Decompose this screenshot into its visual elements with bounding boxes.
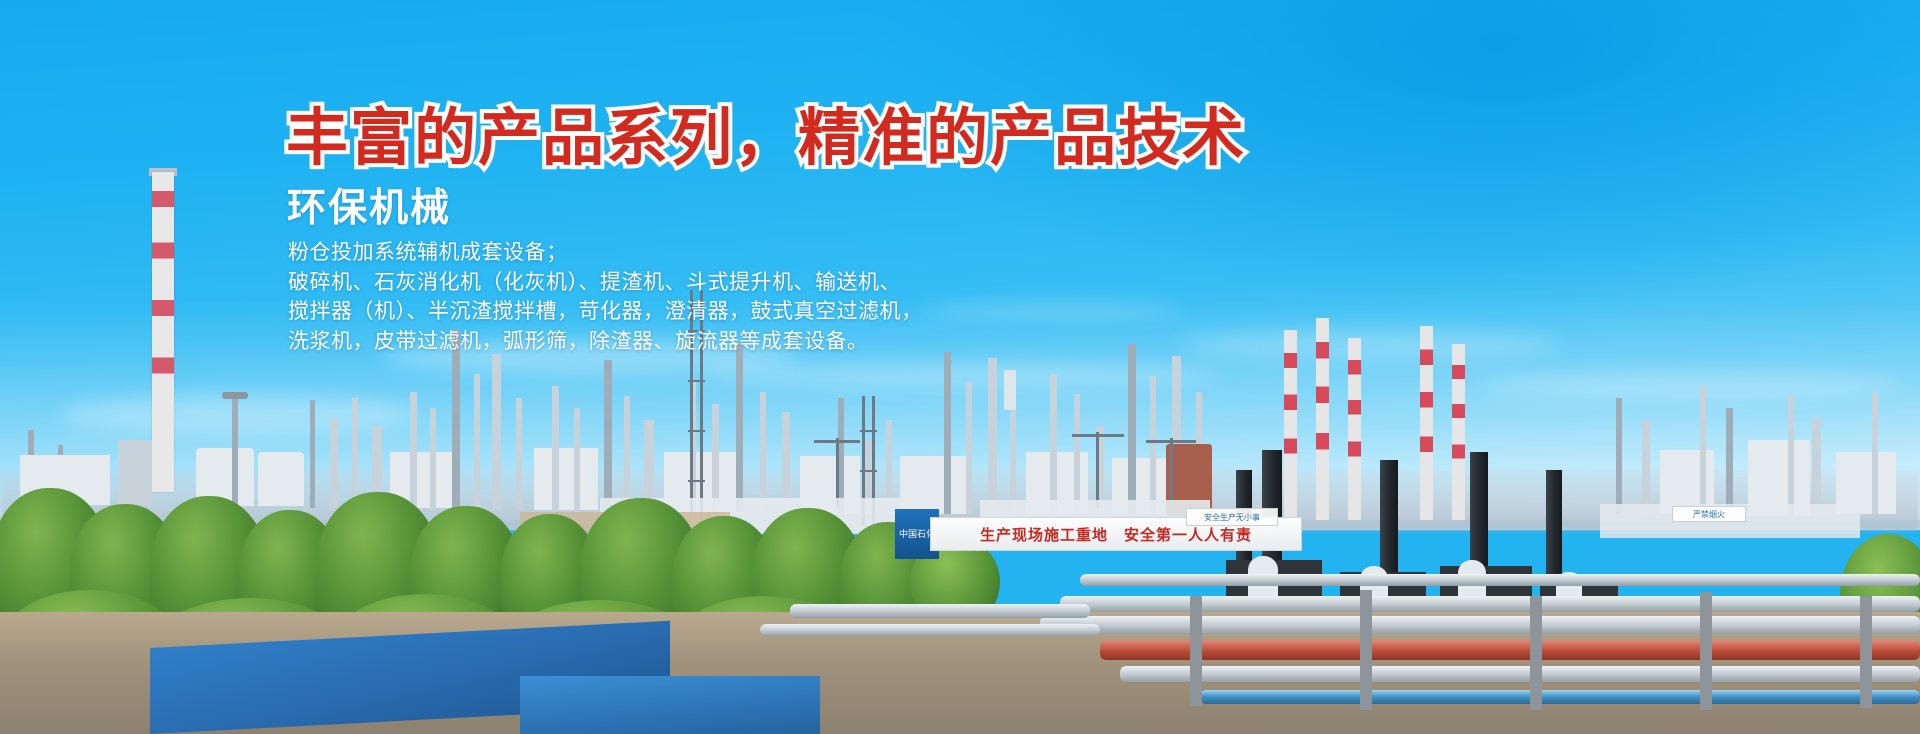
description-line: 粉仓投加系统辅机成套设备； — [288, 238, 923, 268]
hero-banner: 中国石化 生产现场施工重地 安全第一人人有责 安全生产无小事 严禁烟火 丰富的产… — [0, 0, 1920, 734]
description-line: 破碎机、石灰消化机（化灰机）、提渣机、斗式提升机、输送机、 — [288, 268, 923, 298]
banner-subtitle: 环保机械 — [287, 186, 451, 232]
banner-copy: 丰富的产品系列，精准的产品技术 环保机械 粉仓投加系统辅机成套设备； 破碎机、石… — [0, 0, 1920, 734]
description-line: 洗浆机，皮带过滤机，弧形筛，除渣器、旋流器等成套设备。 — [288, 327, 923, 357]
description-line: 搅拌器（机）、半沉渣搅拌槽，苛化器，澄清器，鼓式真空过滤机， — [288, 297, 923, 327]
banner-description: 粉仓投加系统辅机成套设备； 破碎机、石灰消化机（化灰机）、提渣机、斗式提升机、输… — [288, 238, 923, 356]
page-title: 丰富的产品系列，精准的产品技术 — [286, 103, 1246, 173]
